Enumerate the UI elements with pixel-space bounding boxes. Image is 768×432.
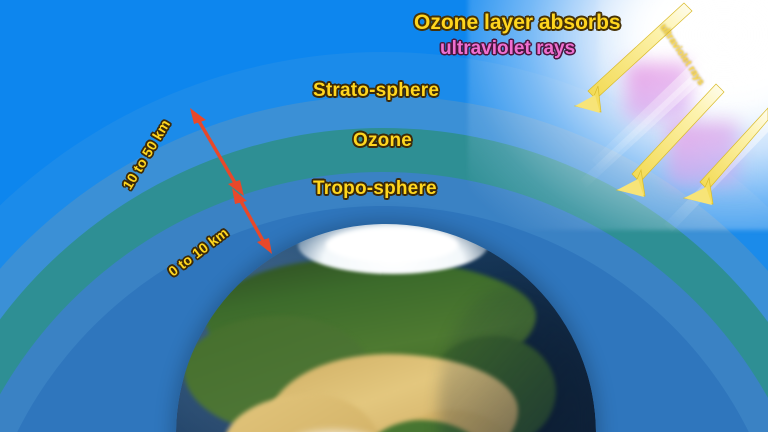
annotation-overlay — [0, 0, 768, 432]
measure-arrow-stratosphere — [190, 108, 244, 196]
label-troposphere: Tropo-sphere — [313, 178, 437, 200]
measure-arrow-troposphere — [232, 188, 272, 254]
headline-primary: Ozone layer absorbs — [414, 11, 621, 35]
ozone-layer-diagram: Ozone layer absorbs ultraviolet rays ult… — [0, 0, 768, 432]
uv-ray-arrow — [684, 108, 768, 205]
headline-secondary: ultraviolet rays — [440, 38, 575, 60]
label-stratosphere: Strato-sphere — [313, 80, 439, 102]
label-ozone: Ozone — [353, 130, 412, 152]
